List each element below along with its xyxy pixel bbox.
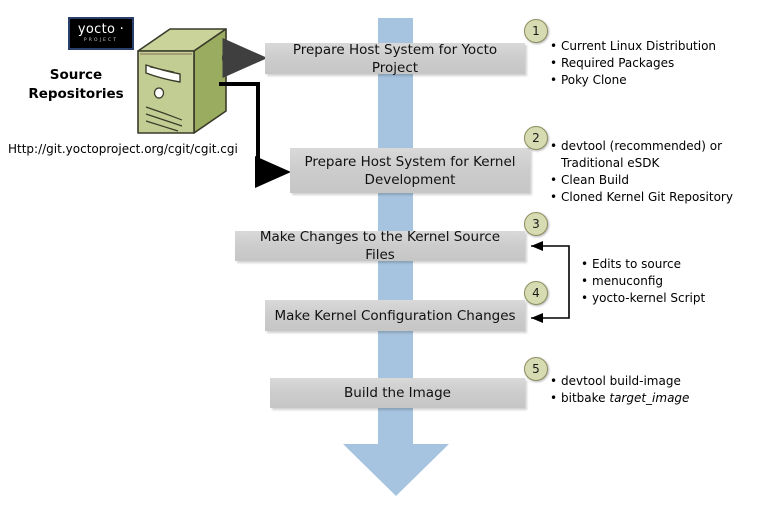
list-item: devtool build-image — [549, 373, 764, 390]
process-box-step2[interactable]: Prepare Host System for Kernel Developme… — [290, 148, 530, 193]
bitbake-command-prefix: bitbake — [561, 391, 609, 405]
list-item: Required Packages — [549, 55, 764, 72]
list-item: devtool (recommended) or Traditional eSD… — [549, 138, 764, 172]
server-tower-icon — [134, 27, 230, 139]
process-box-step1[interactable]: Prepare Host System for Yocto Project — [265, 43, 525, 74]
main-flow-arrow-head — [343, 444, 449, 496]
process-box-step3[interactable]: Make Changes to the Kernel Source Files — [235, 231, 525, 261]
list-item: Clean Build — [549, 172, 764, 189]
step-badge-4: 4 — [524, 281, 548, 305]
feedback-arrowhead-step3 — [531, 241, 543, 251]
list-item: yocto-kernel Script — [580, 290, 760, 307]
notes-feedback-loop: Edits to source menuconfig yocto-kernel … — [580, 256, 760, 307]
source-repositories-label: Source Repositories — [14, 66, 138, 104]
step-badge-2: 2 — [524, 126, 548, 150]
repository-url: Http://git.yoctoproject.org/cgit/cgit.cg… — [8, 142, 238, 156]
notes-step5: devtool build-image bitbake target_image — [549, 373, 764, 407]
step-badge-3: 3 — [524, 212, 548, 236]
source-label-line2: Repositories — [14, 85, 138, 104]
list-item: Cloned Kernel Git Repository — [549, 189, 764, 206]
list-item: Poky Clone — [549, 72, 764, 89]
list-item: menuconfig — [580, 273, 760, 290]
source-label-line1: Source — [14, 66, 138, 85]
step-badge-5: 5 — [524, 357, 548, 381]
process-box-step5[interactable]: Build the Image — [270, 378, 525, 408]
bitbake-target-placeholder: target_image — [609, 391, 689, 405]
list-item: Edits to source — [580, 256, 760, 273]
logo-subtext: PROJECT — [84, 37, 118, 44]
logo-wordmark: yocto · — [78, 23, 124, 36]
step-badge-1: 1 — [524, 19, 548, 43]
yocto-project-logo: yocto · PROJECT — [68, 17, 134, 50]
feedback-arrowhead-step4 — [531, 313, 543, 323]
list-item: bitbake target_image — [549, 390, 764, 407]
notes-step2: devtool (recommended) or Traditional eSD… — [549, 138, 764, 206]
diagram-canvas: yocto · PROJECT Source Repositories — [0, 0, 769, 517]
process-box-step4[interactable]: Make Kernel Configuration Changes — [265, 300, 525, 331]
notes-step1: Current Linux Distribution Required Pack… — [549, 38, 764, 89]
list-item: Current Linux Distribution — [549, 38, 764, 55]
